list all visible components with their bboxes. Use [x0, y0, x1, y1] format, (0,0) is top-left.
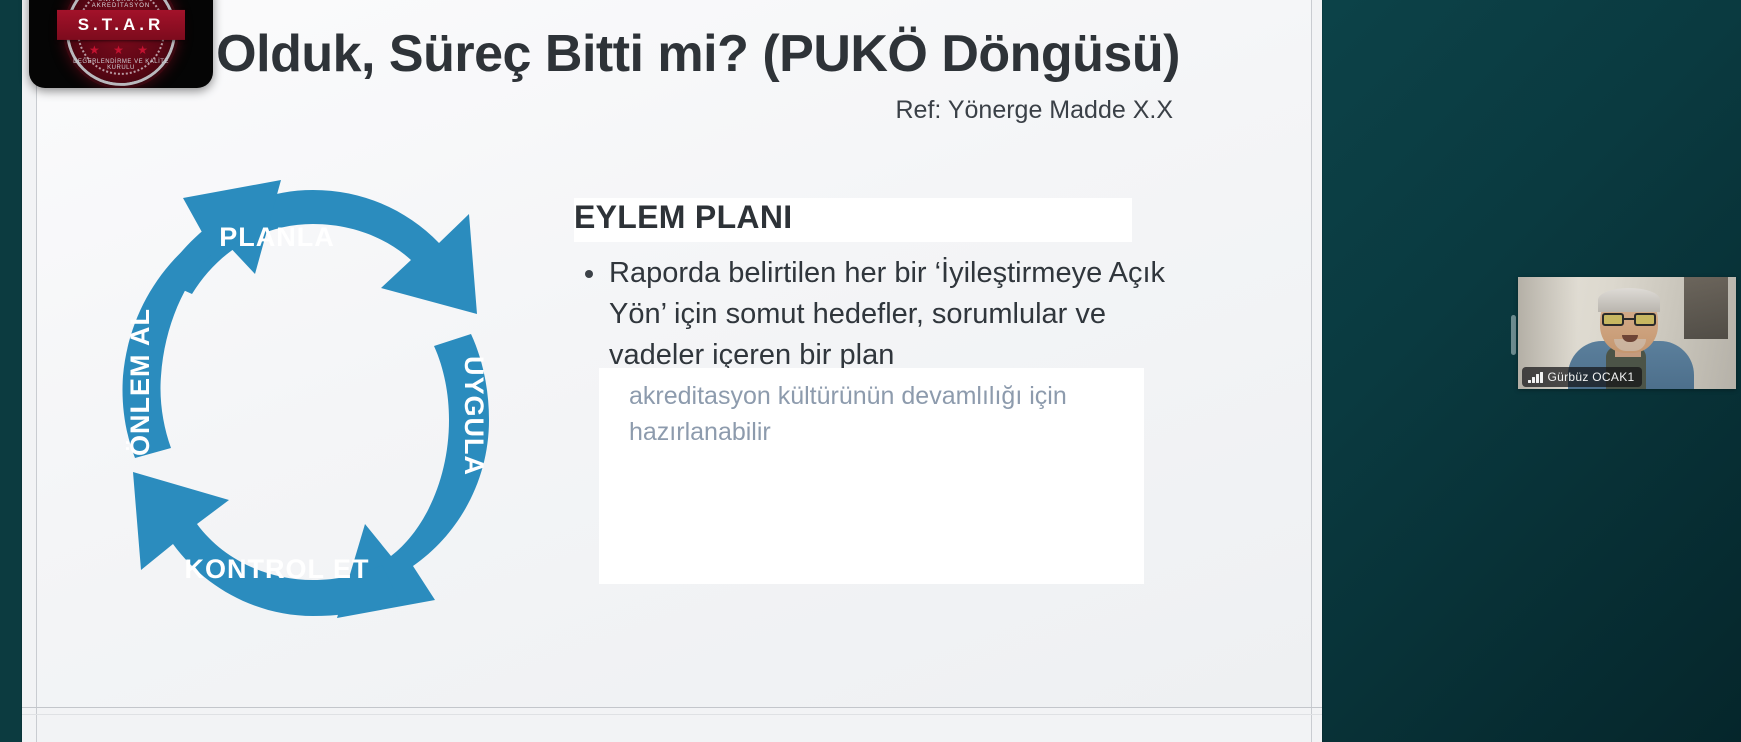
glasses-lens-left [1602, 313, 1624, 326]
star-logo[interactable]: ÜNİVERSİTE AKREDİTASYON S.T.A.R ★ ★ ★ DE… [29, 0, 213, 88]
note-panel-text: akreditasyon kültürünün devamlılığı için… [629, 378, 1129, 450]
cycle-label-uygula: UYGULA [459, 356, 489, 476]
participant-glasses [1602, 313, 1656, 326]
cycle-label-onlem-al: ÖNLEM AL [125, 308, 155, 456]
star-seal-stars: ★ ★ ★ [69, 43, 173, 57]
participant-video-tile[interactable]: Gürbüz OCAK1 [1518, 277, 1736, 389]
glasses-lens-right [1634, 313, 1656, 326]
action-plan-heading: EYLEM PLANI [574, 199, 792, 236]
participant-hair [1598, 288, 1660, 312]
video-doorframe [1684, 277, 1728, 339]
shared-screen-region[interactable]: te Olduk, Süreç Bitti mi? (PUKÖ Döngüsü)… [0, 0, 1322, 742]
slide-surface: te Olduk, Süreç Bitti mi? (PUKÖ Döngüsü)… [37, 0, 1311, 707]
star-seal-arc-top: ÜNİVERSİTE AKREDİTASYON [69, 0, 173, 9]
signal-bars-icon [1528, 372, 1543, 383]
action-plan-bullet-text: Raporda belirtilen her bir ‘İyileştirmey… [609, 253, 1175, 376]
cycle-label-kontrol-et: KONTROL ET [185, 554, 370, 584]
screen-root: te Olduk, Süreç Bitti mi? (PUKÖ Döngüsü)… [0, 0, 1741, 742]
slide-reference-note: Ref: Yönerge Madde X.X [896, 96, 1174, 125]
slide-frame-right-rule [1311, 0, 1312, 742]
video-tile-drag-handle[interactable] [1511, 315, 1516, 355]
puko-cycle-diagram: PLANLA UYGULA KONTROL ET ÖNLEM AL [45, 138, 565, 638]
star-seal-icon: ÜNİVERSİTE AKREDİTASYON S.T.A.R ★ ★ ★ DE… [69, 0, 173, 83]
cycle-label-planla: PLANLA [219, 222, 335, 252]
star-seal-arc-bottom: DEĞERLENDİRME VE KALİTE KURULU [69, 59, 173, 71]
participant-name-label: Gürbüz OCAK1 [1548, 370, 1635, 384]
star-seal-band: S.T.A.R [57, 10, 185, 40]
glasses-bridge [1624, 318, 1634, 320]
slide-frame-bottom-rule [22, 707, 1322, 708]
participant-name-badge: Gürbüz OCAK1 [1522, 367, 1642, 387]
slide-title: te Olduk, Süreç Bitti mi? (PUKÖ Döngüsü) [157, 24, 1311, 84]
slide-frame-bottom-rule-2 [22, 714, 1322, 715]
bullet-dot-icon [585, 270, 593, 278]
